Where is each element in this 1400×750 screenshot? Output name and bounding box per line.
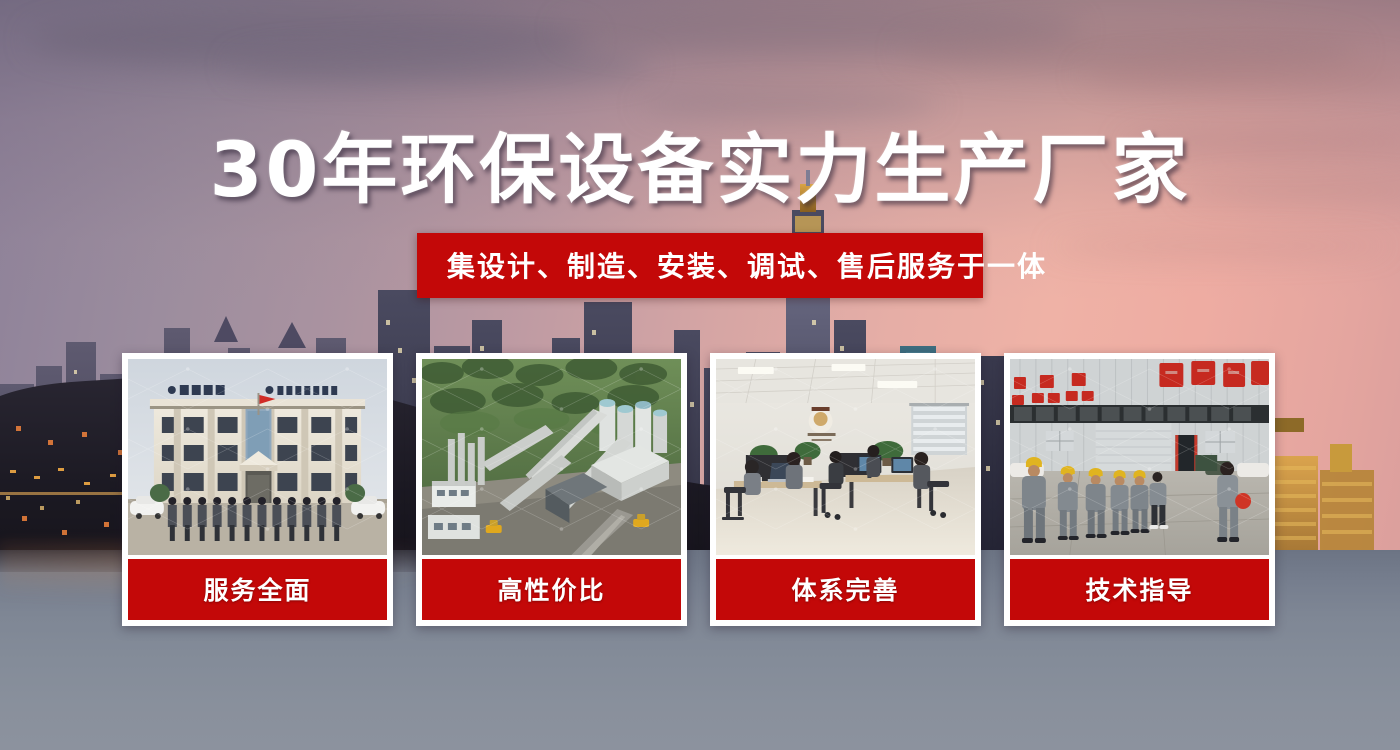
- feature-card-row: 服务全面: [122, 353, 1280, 626]
- card-photo-worker-briefing: [1010, 359, 1269, 555]
- feature-card[interactable]: 技术指导: [1004, 353, 1275, 626]
- cloud-shape: [230, 46, 650, 86]
- feature-card[interactable]: 服务全面: [122, 353, 393, 626]
- card-caption: 服务全面: [128, 559, 387, 620]
- card-photo-industrial-plant: [422, 359, 681, 555]
- cloud-shape: [1080, 58, 1400, 92]
- feature-card[interactable]: 体系完善: [710, 353, 981, 626]
- card-caption: 体系完善: [716, 559, 975, 620]
- card-caption: 高性价比: [422, 559, 681, 620]
- subtitle-ribbon: 集设计、制造、安装、调试、售后服务于一体: [417, 233, 983, 298]
- cloud-shape: [640, 90, 940, 120]
- promo-banner: 30年环保设备实力生产厂家 集设计、制造、安装、调试、售后服务于一体: [0, 0, 1400, 750]
- subtitle-ribbon-wrap: 集设计、制造、安装、调试、售后服务于一体: [0, 233, 1400, 298]
- card-photo-office-interior: [716, 359, 975, 555]
- page-title: 30年环保设备实力生产厂家: [0, 132, 1400, 208]
- card-caption: 技术指导: [1010, 559, 1269, 620]
- card-photo-headquarters: [128, 359, 387, 555]
- feature-card[interactable]: 高性价比: [416, 353, 687, 626]
